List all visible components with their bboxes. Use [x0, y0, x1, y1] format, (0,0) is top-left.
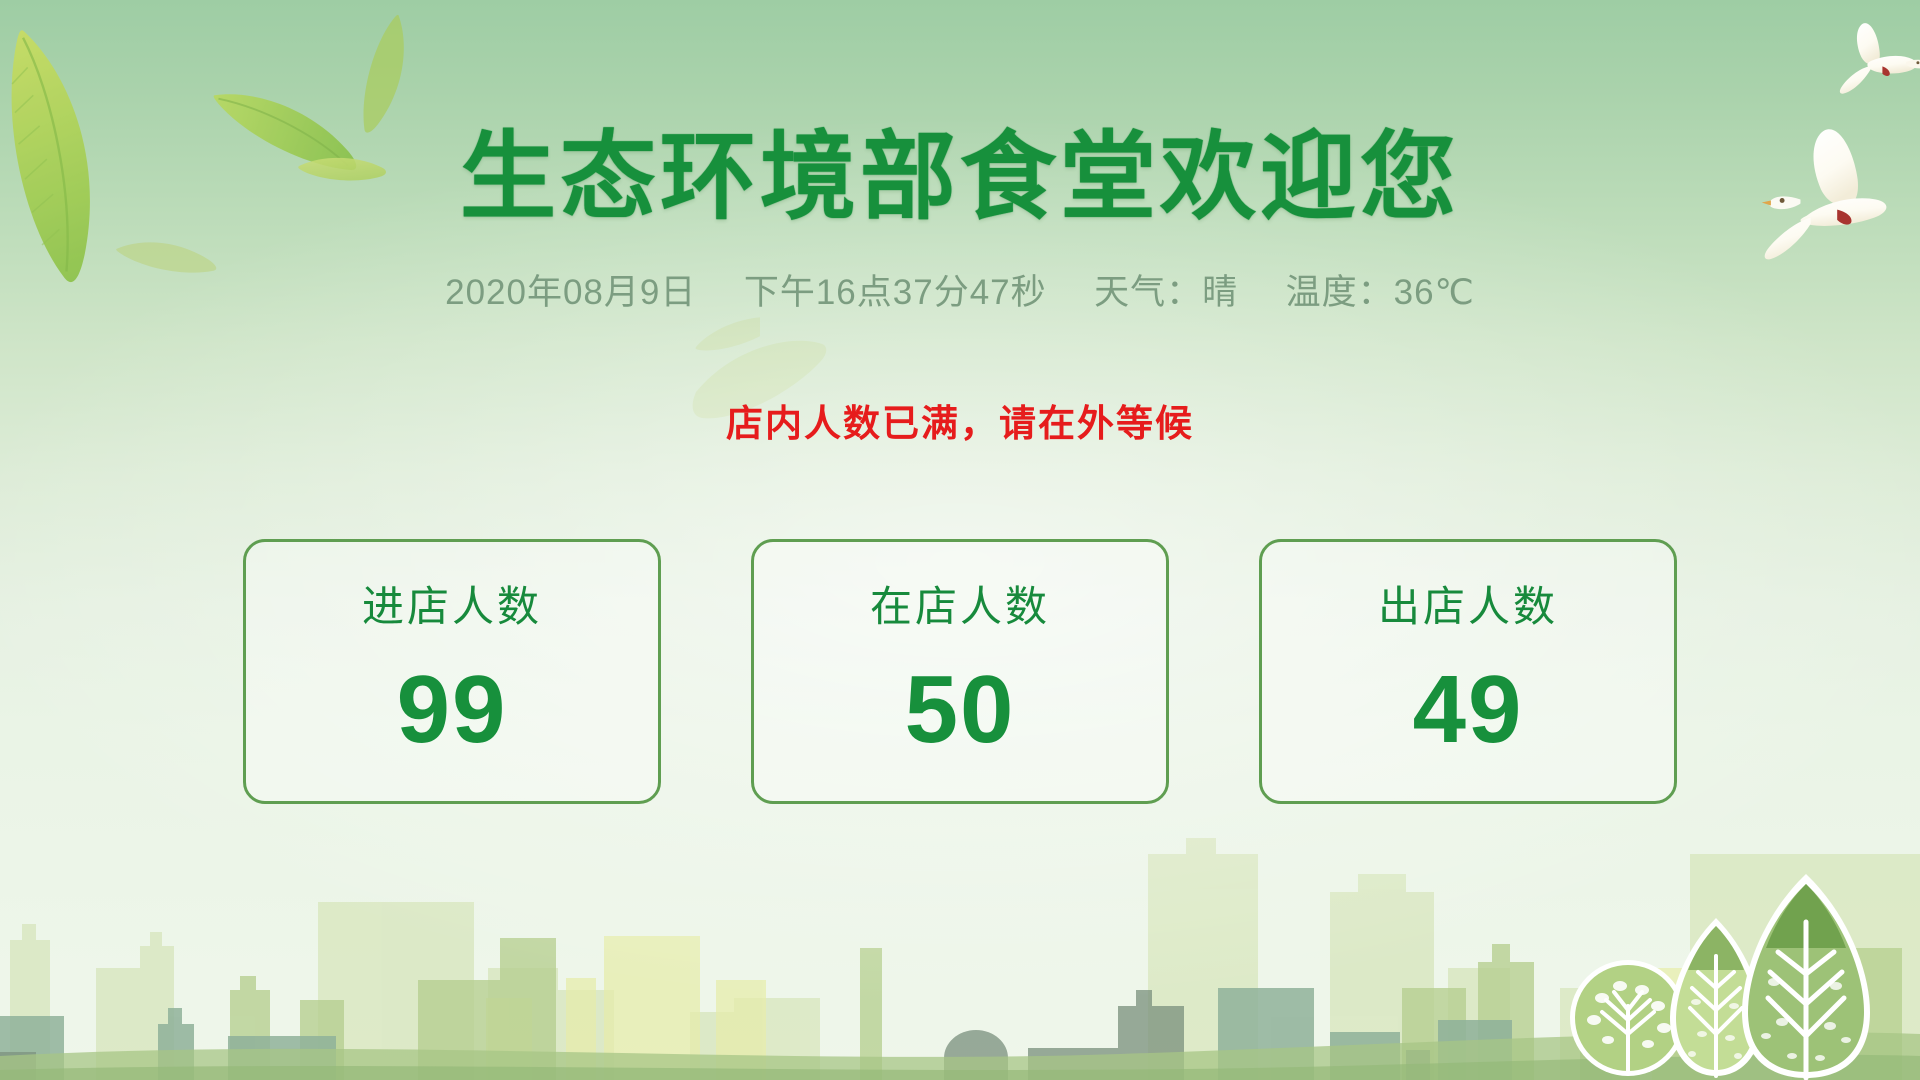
counter-cards: 进店人数 99 在店人数 50 出店人数 49: [243, 539, 1677, 804]
counter-value-entered: 99: [397, 662, 508, 758]
counter-label-entered: 进店人数: [362, 586, 542, 628]
time-text: 下午16点37分47秒: [744, 264, 1047, 315]
counter-card-exited: 出店人数 49: [1259, 539, 1677, 804]
page-title: 生态环境部食堂欢迎您: [460, 130, 1460, 226]
counter-value-inside: 50: [905, 662, 1016, 758]
status-bar: 2020年08月9日 下午16点37分47秒 天气：晴 温度：36℃: [445, 264, 1475, 315]
counter-card-entered: 进店人数 99: [243, 539, 661, 804]
date-text: 2020年08月9日: [445, 264, 696, 315]
board-content: 生态环境部食堂欢迎您 2020年08月9日 下午16点37分47秒 天气：晴 温…: [0, 0, 1920, 1080]
weather-value: 晴: [1202, 264, 1238, 315]
weather-label: 天气：: [1094, 264, 1202, 315]
counter-label-exited: 出店人数: [1378, 586, 1558, 628]
welcome-board-stage: 生态环境部食堂欢迎您 2020年08月9日 下午16点37分47秒 天气：晴 温…: [0, 0, 1920, 1080]
counter-label-inside: 在店人数: [870, 586, 1050, 628]
temperature-label: 温度：: [1286, 264, 1394, 315]
counter-card-inside: 在店人数 50: [751, 539, 1169, 804]
capacity-alert-message: 店内人数已满，请在外等候: [726, 393, 1194, 447]
temperature-value: 36℃: [1394, 273, 1475, 313]
counter-value-exited: 49: [1413, 662, 1524, 758]
